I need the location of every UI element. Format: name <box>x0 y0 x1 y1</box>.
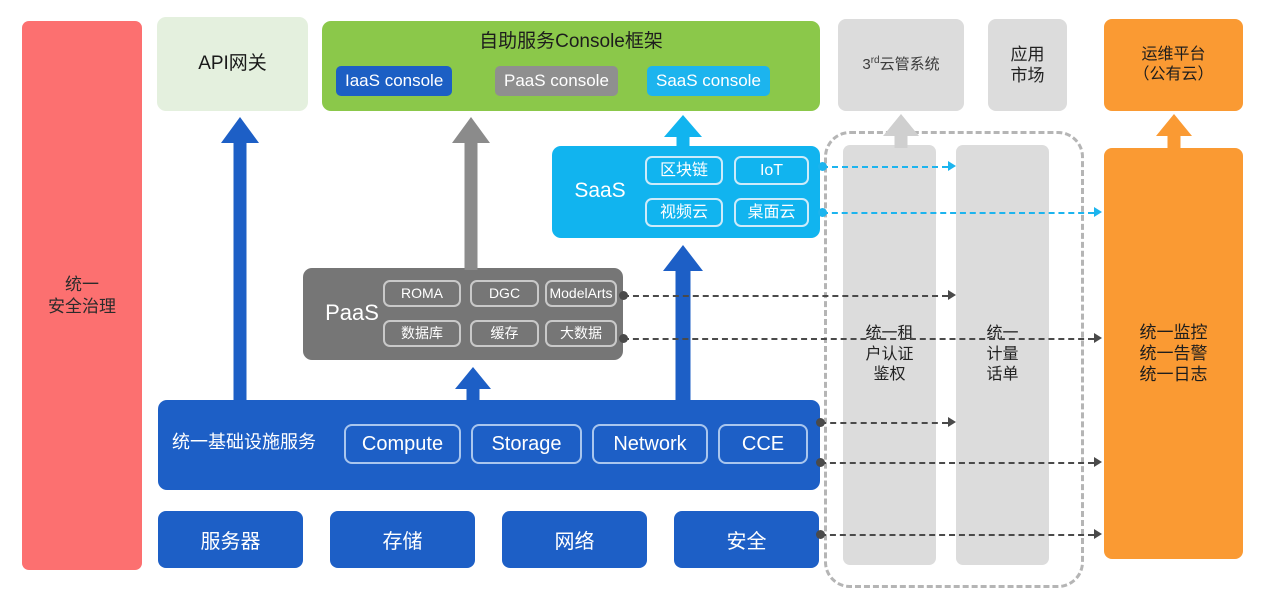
connector-infra-to-auth <box>820 422 948 424</box>
connector-arrowhead-infra-ops <box>1094 457 1102 467</box>
saas-chip-video-cloud-label: 视频云 <box>660 203 708 223</box>
saas-chip-blockchain[interactable]: 区块链 <box>645 156 723 185</box>
infra-chip-storage[interactable]: Storage <box>471 424 582 464</box>
connector-arrowhead-paas-auth <box>948 290 956 300</box>
paas-console-label: PaaS console <box>504 70 609 91</box>
api-gateway-box: API网关 <box>157 17 308 111</box>
connector-arrowhead-saas-ops <box>1094 207 1102 217</box>
paas-chip-cache[interactable]: 缓存 <box>470 320 539 347</box>
connector-paas-to-auth <box>623 295 948 297</box>
unified-monitoring-panel: 统一监控 统一告警 统一日志 <box>1104 148 1243 559</box>
resource-box-server[interactable]: 服务器 <box>158 511 303 568</box>
paas-chip-dgc-label: DGC <box>489 285 520 303</box>
console-frame-title: 自助服务Console框架 <box>322 30 820 54</box>
third-party-cloud-management-box: 3rd云管系统 <box>838 19 964 111</box>
paas-chip-roma[interactable]: ROMA <box>383 280 461 307</box>
infra-chip-compute-label: Compute <box>362 432 443 457</box>
paas-console-chip[interactable]: PaaS console <box>495 66 618 96</box>
paas-chip-cache-label: 缓存 <box>491 325 519 343</box>
infra-chip-storage-label: Storage <box>491 432 561 457</box>
saas-block: SaaS 区块链 IoT 视频云 桌面云 <box>552 146 820 238</box>
unified-monitoring-label: 统一监控 统一告警 统一日志 <box>1140 322 1208 386</box>
infra-chip-cce-label: CCE <box>742 432 784 457</box>
saas-chip-desktop-cloud-label: 桌面云 <box>747 203 795 223</box>
self-service-console-frame: 自助服务Console框架 IaaS console PaaS console … <box>322 21 820 111</box>
iaas-console-chip[interactable]: IaaS console <box>336 66 452 96</box>
paas-chip-database[interactable]: 数据库 <box>383 320 461 347</box>
paas-block-label: PaaS <box>313 299 391 327</box>
connector-saas-to-auth <box>822 166 948 168</box>
resource-box-storage-label: 存储 <box>383 525 423 554</box>
connector-resources-to-ops <box>820 534 1094 536</box>
unified-metering-billing-label: 统一 计量 话单 <box>986 324 1018 386</box>
saas-chip-iot-label: IoT <box>760 161 783 181</box>
paas-chip-bigdata-label: 大数据 <box>560 325 602 343</box>
saas-chip-video-cloud[interactable]: 视频云 <box>645 198 723 227</box>
resource-box-network[interactable]: 网络 <box>502 511 647 568</box>
arrow-saas-to-console <box>663 115 703 150</box>
infra-chip-network[interactable]: Network <box>592 424 708 464</box>
resource-box-network-label: 网络 <box>555 525 595 554</box>
arrow-ops-side-to-ops-top <box>1154 114 1194 150</box>
saas-console-label: SaaS console <box>656 70 761 91</box>
infra-chip-compute[interactable]: Compute <box>344 424 461 464</box>
unified-metering-billing-column: 统一 计量 话单 <box>956 145 1049 565</box>
resource-box-security-label: 安全 <box>727 525 767 554</box>
ops-platform-public-cloud-box: 运维平台 （公有云） <box>1104 19 1243 111</box>
saas-block-label: SaaS <box>564 178 636 204</box>
ops-platform-public-cloud-label: 运维平台 （公有云） <box>1133 45 1213 85</box>
app-market-label: 应用 市场 <box>1011 44 1045 87</box>
paas-block: PaaS ROMA DGC ModelArts 数据库 缓存 大数据 <box>303 268 623 360</box>
unified-security-governance-label: 统一 安全治理 <box>48 274 116 317</box>
arrow-infra-to-paas <box>453 367 493 402</box>
connector-arrowhead-resources-ops <box>1094 529 1102 539</box>
paas-chip-roma-label: ROMA <box>401 285 443 303</box>
arrow-paas-to-console <box>451 117 491 270</box>
architecture-diagram: 统一 安全治理 API网关 自助服务Console框架 IaaS console… <box>0 0 1265 605</box>
saas-chip-iot[interactable]: IoT <box>734 156 809 185</box>
arrow-infra-to-saas <box>663 245 703 402</box>
saas-chip-desktop-cloud[interactable]: 桌面云 <box>734 198 809 227</box>
infra-chip-cce[interactable]: CCE <box>718 424 808 464</box>
resource-box-server-label: 服务器 <box>201 525 261 554</box>
saas-chip-blockchain-label: 区块链 <box>660 161 708 181</box>
paas-chip-bigdata[interactable]: 大数据 <box>545 320 617 347</box>
connector-saas-to-ops <box>822 212 1094 214</box>
arrow-infra-to-api-gateway <box>220 117 260 401</box>
connector-paas-to-ops <box>623 338 1094 340</box>
unified-tenant-auth-column: 统一租 户认证 鉴权 <box>843 145 936 565</box>
third-party-cloud-management-label: 3rd云管系统 <box>862 55 939 75</box>
unified-tenant-auth-label: 统一租 户认证 鉴权 <box>865 324 913 386</box>
app-market-box: 应用 市场 <box>988 19 1067 111</box>
paas-chip-dgc[interactable]: DGC <box>470 280 539 307</box>
paas-chip-modelarts-label: ModelArts <box>549 285 612 303</box>
paas-chip-database-label: 数据库 <box>401 325 443 343</box>
unified-infrastructure-label: 统一基础设施服务 <box>172 431 316 454</box>
resource-box-storage[interactable]: 存储 <box>330 511 475 568</box>
arrow-shared-to-third-cloud <box>881 114 921 148</box>
infra-chip-network-label: Network <box>613 432 686 457</box>
resource-box-security[interactable]: 安全 <box>674 511 819 568</box>
saas-console-chip[interactable]: SaaS console <box>647 66 770 96</box>
api-gateway-label: API网关 <box>198 52 267 76</box>
unified-infrastructure-bar: 统一基础设施服务 Compute Storage Network CCE <box>158 400 820 490</box>
paas-chip-modelarts[interactable]: ModelArts <box>545 280 617 307</box>
unified-security-governance-panel: 统一 安全治理 <box>22 21 142 570</box>
connector-arrowhead-saas-auth <box>948 161 956 171</box>
connector-arrowhead-infra-auth <box>948 417 956 427</box>
connector-infra-to-ops <box>820 462 1094 464</box>
connector-arrowhead-paas-ops <box>1094 333 1102 343</box>
iaas-console-label: IaaS console <box>345 70 443 91</box>
